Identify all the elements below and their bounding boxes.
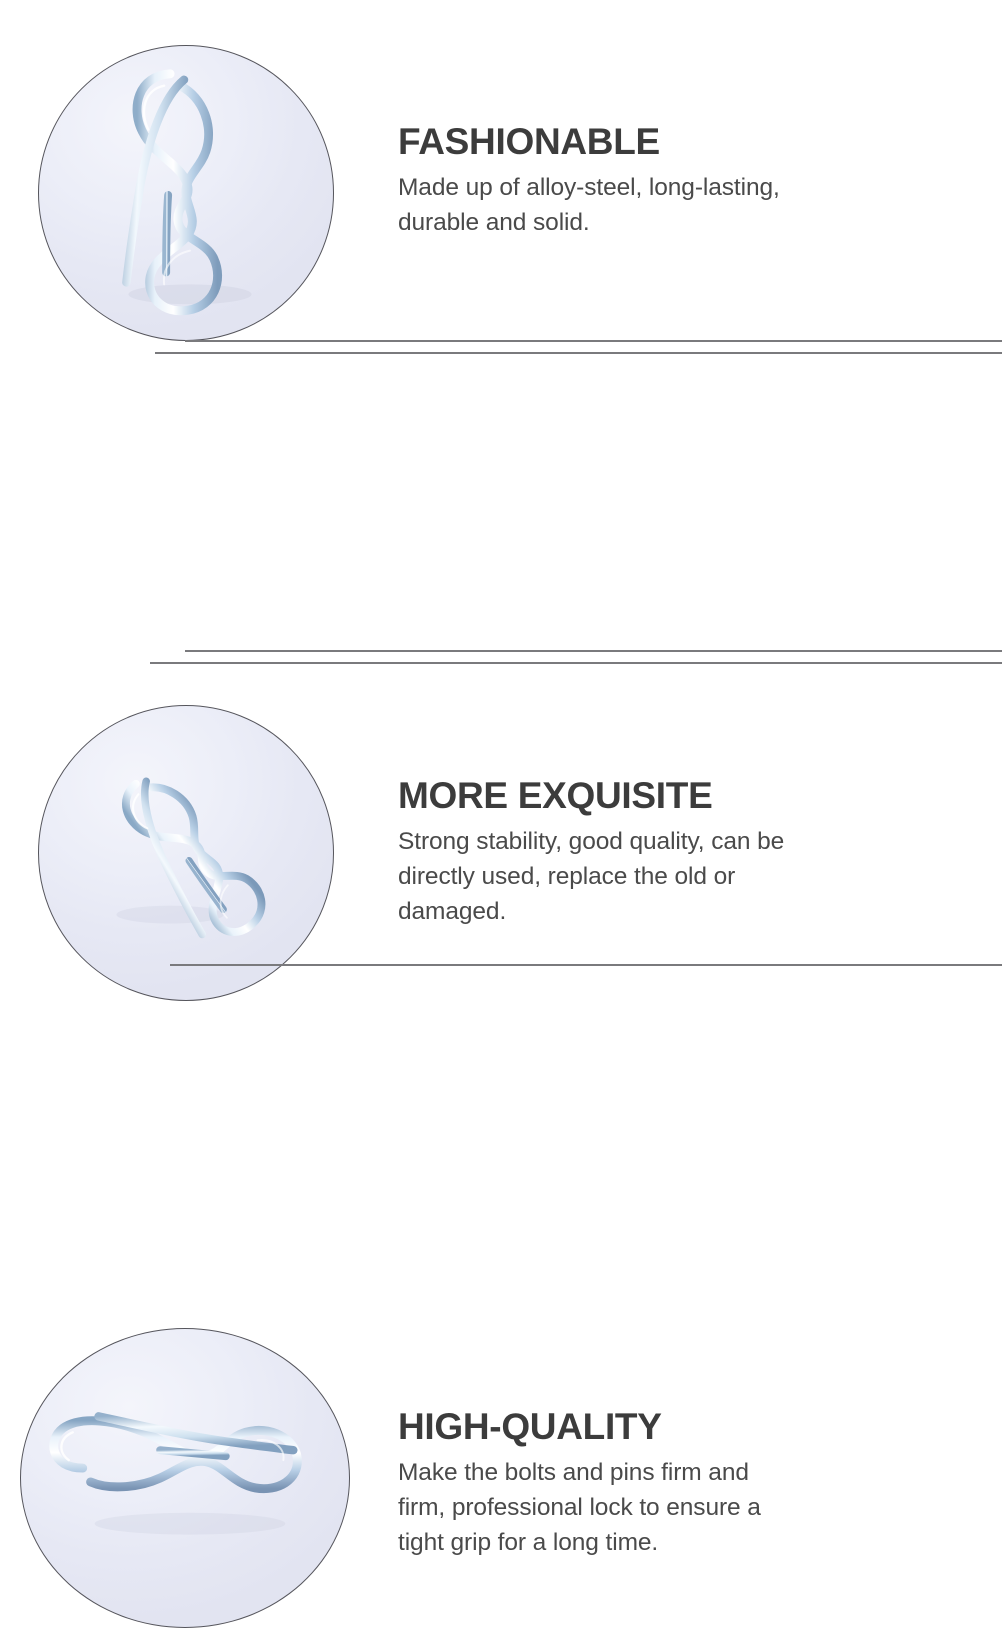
feature-text-high-quality: HIGH-QUALITY Make the bolts and pins fir… — [398, 1407, 928, 1560]
section-divider-line — [185, 340, 1002, 342]
feature-row-high-quality: HIGH-QUALITY Make the bolts and pins fir… — [0, 663, 1002, 1002]
section-divider-line — [170, 964, 1002, 966]
description-line: Make the bolts and pins firm and — [398, 1456, 928, 1491]
feature-description: Make the bolts and pins firm and firm, p… — [398, 1456, 928, 1560]
feature-row-fashionable: FASHIONABLE Made up of alloy-steel, long… — [0, 0, 1002, 352]
r-clip-vertical-photo — [38, 45, 334, 341]
product-feature-infographic: FASHIONABLE Made up of alloy-steel, long… — [0, 0, 1002, 1002]
feature-text-fashionable: FASHIONABLE Made up of alloy-steel, long… — [398, 122, 928, 241]
r-clip-horizontal-icon — [21, 1329, 349, 1627]
feature-heading: FASHIONABLE — [398, 122, 928, 162]
feature-heading: HIGH-QUALITY — [398, 1407, 928, 1447]
description-line: durable and solid. — [398, 206, 928, 241]
description-line: firm, professional lock to ensure a — [398, 1491, 928, 1526]
description-line: tight grip for a long time. — [398, 1526, 928, 1561]
feature-description: Made up of alloy-steel, long-lasting, du… — [398, 171, 928, 241]
description-line: Made up of alloy-steel, long-lasting, — [398, 171, 928, 206]
feature-row-more-exquisite: MORE EXQUISITE Strong stability, good qu… — [0, 352, 1002, 663]
r-clip-horizontal-photo — [20, 1328, 350, 1628]
r-clip-vertical-icon — [39, 46, 333, 340]
section-divider-line — [185, 650, 1002, 652]
